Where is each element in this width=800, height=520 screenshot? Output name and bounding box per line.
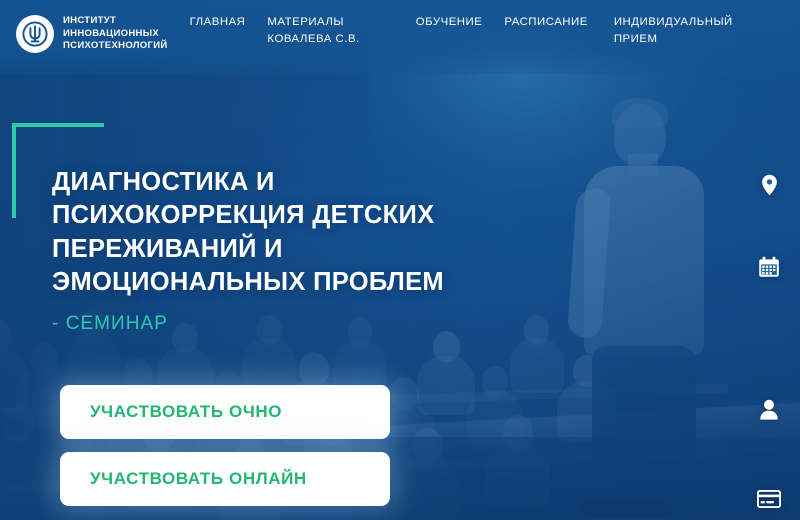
nav-item-training[interactable]: ОБУЧЕНИЕ — [416, 14, 483, 31]
rail-payment-button[interactable] — [754, 484, 784, 514]
hero-subtitle: - СЕМИНАР — [52, 313, 168, 335]
rail-profile-button[interactable] — [754, 394, 784, 424]
hero-cta-group: УЧАСТВОВАТЬ ОЧНО УЧАСТВОВАТЬ ОНЛАЙН — [60, 385, 390, 506]
psi-circle-logo-icon — [16, 15, 54, 53]
landing-page: ИНСТИТУТ ИННОВАЦИОННЫХ ПСИХОТЕХНОЛОГИЙ Г… — [0, 0, 800, 520]
nav-item-home[interactable]: ГЛАВНАЯ — [190, 14, 246, 31]
user-icon — [759, 399, 779, 420]
main-navigation: ГЛАВНАЯ МАТЕРИАЛЫ КОВАЛЕВА С.В. ОБУЧЕНИЕ… — [190, 14, 800, 47]
brand-logo[interactable]: ИНСТИТУТ ИННОВАЦИОННЫХ ПСИХОТЕХНОЛОГИЙ — [16, 14, 168, 53]
map-pin-icon — [761, 174, 778, 196]
rail-location-button[interactable] — [754, 170, 784, 200]
site-header: ИНСТИТУТ ИННОВАЦИОННЫХ ПСИХОТЕХНОЛОГИЙ Г… — [0, 0, 800, 74]
side-icon-rail — [752, 170, 786, 514]
credit-card-icon — [757, 490, 781, 508]
hero-section: ДИАГНОСТИКА И ПСИХОКОРРЕКЦИЯ ДЕТСКИХ ПЕР… — [0, 0, 800, 520]
nav-item-schedule[interactable]: РАСПИСАНИЕ — [504, 14, 588, 31]
brand-name: ИНСТИТУТ ИННОВАЦИОННЫХ ПСИХОТЕХНОЛОГИЙ — [63, 14, 168, 53]
participate-online-button[interactable]: УЧАСТВОВАТЬ ОНЛАЙН — [60, 452, 390, 506]
calendar-icon — [758, 256, 780, 278]
nav-item-individual-reception[interactable]: ИНДИВИДУАЛЬНЫЙ ПРИЕМ — [614, 14, 733, 47]
page-title: ДИАГНОСТИКА И ПСИХОКОРРЕКЦИЯ ДЕТСКИХ ПЕР… — [52, 166, 572, 300]
rail-schedule-button[interactable] — [754, 252, 784, 282]
participate-offline-button[interactable]: УЧАСТВОВАТЬ ОЧНО — [60, 385, 390, 439]
nav-item-materials[interactable]: МАТЕРИАЛЫ КОВАЛЕВА С.В. — [267, 14, 359, 47]
